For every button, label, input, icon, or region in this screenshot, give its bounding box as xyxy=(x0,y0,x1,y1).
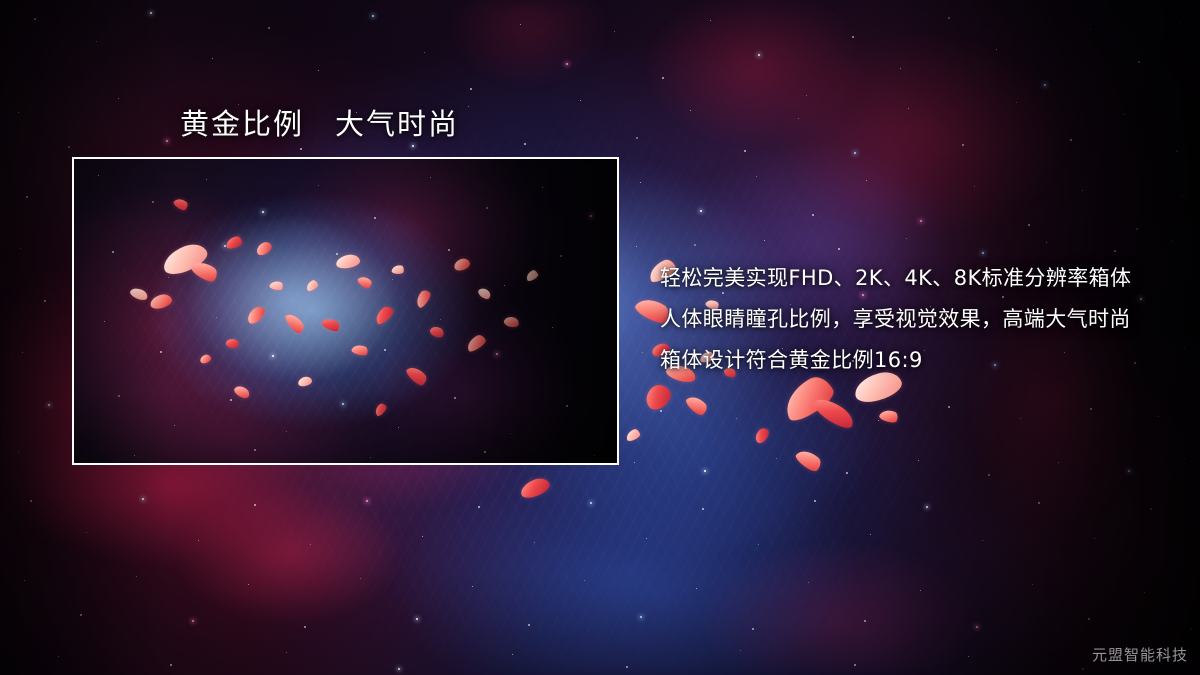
flower-petal xyxy=(794,445,824,474)
flower-petal xyxy=(811,393,858,433)
flower-petal xyxy=(684,392,709,418)
watermark: 元盟智能科技 xyxy=(1092,644,1188,665)
framed-photo xyxy=(72,157,619,465)
photo-vignette xyxy=(74,159,617,463)
body-text-block: 轻松完美实现FHD、2K、4K、8K标准分辨率箱体 人体眼睛瞳孔比例，享受视觉效… xyxy=(660,258,1180,381)
page-title: 黄金比例 大气时尚 xyxy=(180,101,459,143)
flower-petal xyxy=(518,475,552,500)
flower-petal xyxy=(878,407,899,425)
presentation-slide: 黄金比例 大气时尚 轻松完美实现FHD、2K、4K、8K标准分辨率箱体 人体眼睛… xyxy=(0,0,1200,675)
body-line-1: 轻松完美实现FHD、2K、4K、8K标准分辨率箱体 xyxy=(660,258,1180,299)
flower-petal xyxy=(753,426,772,445)
flower-petal xyxy=(641,380,675,413)
flower-petal xyxy=(625,428,641,442)
body-line-2: 人体眼睛瞳孔比例，享受视觉效果，高端大气时尚 xyxy=(660,299,1180,340)
body-line-3: 箱体设计符合黄金比例16:9 xyxy=(660,340,1180,381)
